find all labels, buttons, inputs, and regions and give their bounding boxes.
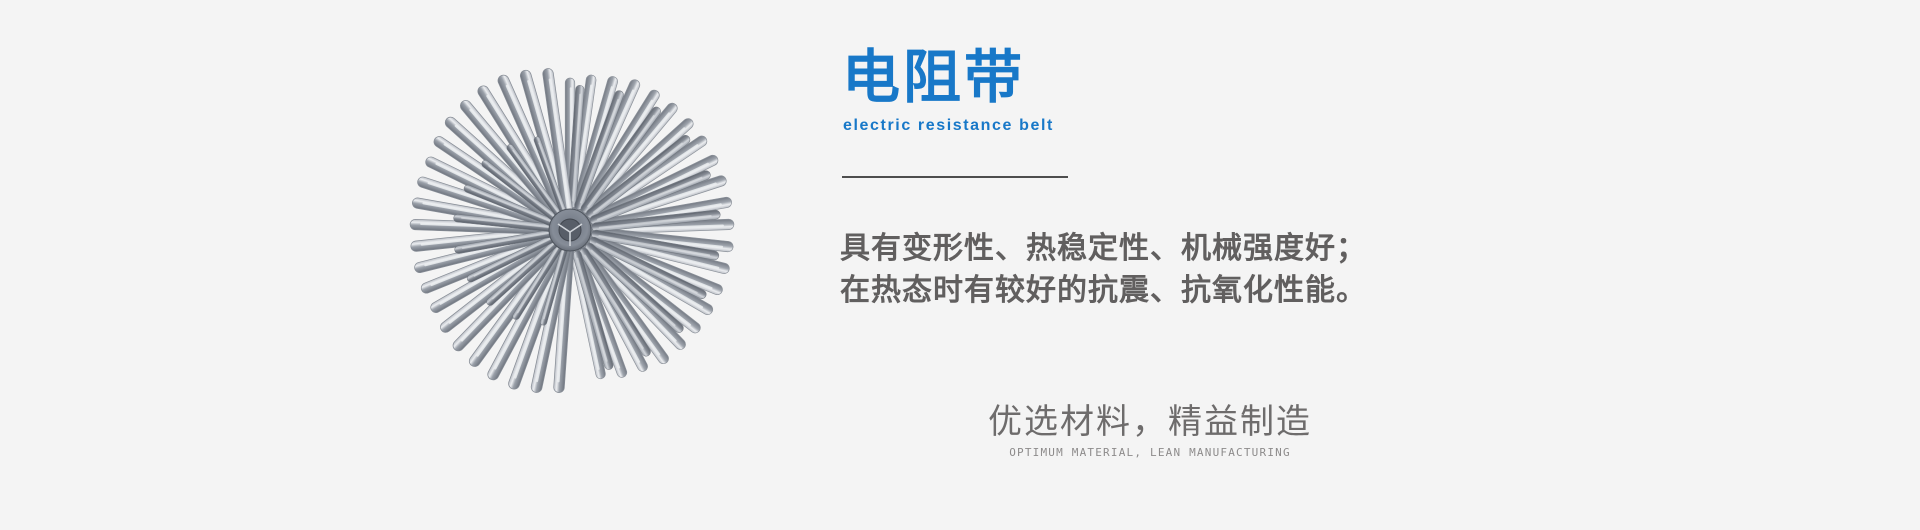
title-divider <box>842 176 1068 178</box>
product-image <box>360 52 780 452</box>
slogan-chinese: 优选材料，精益制造 <box>950 400 1350 444</box>
slogan-english: OPTIMUM MATERIAL, LEAN MANUFACTURING <box>950 446 1350 460</box>
resistance-belt-illustration <box>360 52 780 452</box>
banner-text-column: 电阻带 electric resistance belt 具有变形性、热稳定性、… <box>840 0 1740 530</box>
description-line-1: 具有变形性、热稳定性、机械强度好； <box>840 228 1560 270</box>
product-banner: 电阻带 electric resistance belt 具有变形性、热稳定性、… <box>0 0 1920 530</box>
page-subtitle: electric resistance belt <box>843 116 1054 136</box>
description-block: 具有变形性、热稳定性、机械强度好； 在热态时有较好的抗震、抗氧化性能。 <box>840 228 1560 312</box>
slogan-block: 优选材料，精益制造 OPTIMUM MATERIAL, LEAN MANUFAC… <box>950 400 1350 460</box>
description-line-2: 在热态时有较好的抗震、抗氧化性能。 <box>840 270 1560 312</box>
page-title: 电阻带 <box>842 46 1025 110</box>
